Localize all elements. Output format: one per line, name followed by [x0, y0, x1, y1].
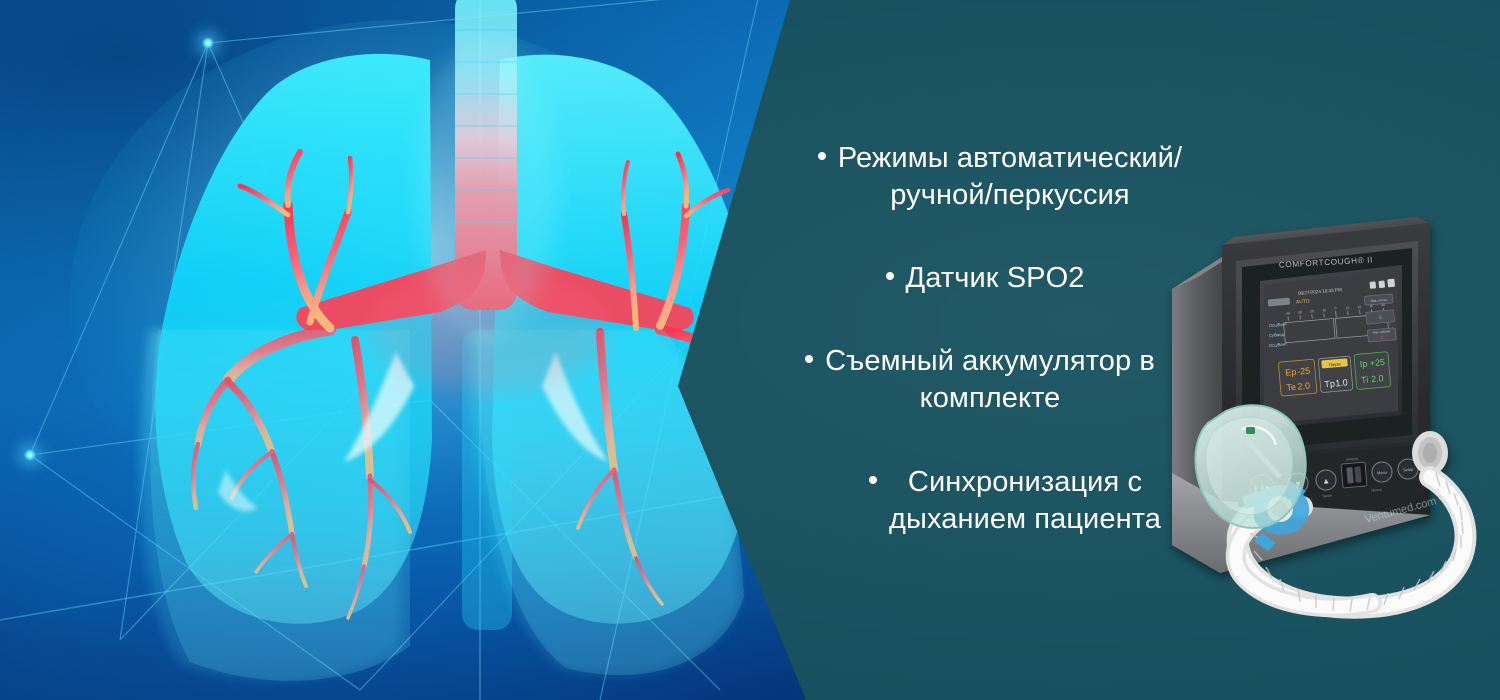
svg-text:▲: ▲	[1322, 476, 1331, 486]
readout-label: Iр	[1359, 359, 1367, 370]
scale-tick: 10	[1345, 306, 1349, 310]
screen-mode-tag: AUTO	[1296, 298, 1310, 305]
bullet-dot-icon	[886, 272, 894, 280]
readout-label: Eр	[1285, 367, 1297, 378]
readout-value: 2.0	[1371, 373, 1384, 384]
readout-value: +25	[1369, 357, 1385, 368]
scale-tick: -30	[1297, 310, 1302, 314]
readout-label: Te	[1286, 382, 1296, 393]
button-caption: Switch	[1323, 494, 1333, 499]
mask-valve	[1246, 427, 1255, 434]
feature-text-sync: Синхронизация сдыханием пациента	[889, 464, 1161, 538]
feature-text-battery: Съемный аккумулятор вкомплекте	[825, 343, 1155, 417]
readout-value: -25	[1297, 366, 1311, 377]
readout-value: 1.0	[1335, 377, 1348, 388]
readout-label: Tp	[1324, 378, 1335, 389]
comfortcough-device: COMFORTCOUGH® II 06/27/2024 10:43 PM AUT…	[1130, 215, 1490, 635]
bullet-dot-icon	[818, 152, 826, 160]
scale-tick: -10	[1321, 308, 1326, 312]
glass-front-left	[150, 330, 410, 681]
scale-tick: 20	[1357, 305, 1361, 309]
list-item: Режимы автоматический/ручной/перкуссия	[700, 140, 1260, 214]
feature-text-modes: Режимы автоматический/ручной/перкуссия	[838, 140, 1182, 214]
scale-tick: -20	[1309, 309, 1314, 313]
scale-tick: -40	[1285, 311, 1290, 315]
button-caption: Setup	[1403, 466, 1415, 472]
readout-value: 2.0	[1297, 381, 1310, 392]
slide-canvas: Режимы автоматический/ручной/перкуссия Д…	[0, 0, 1500, 700]
bullet-dot-icon	[869, 476, 877, 484]
button-caption: Menu	[1377, 470, 1387, 476]
device-image: COMFORTCOUGH® II 06/27/2024 10:43 PM AUT…	[1130, 215, 1490, 635]
feature-text-spo2: Датчик SPO2	[906, 260, 1085, 297]
bullet-dot-icon	[805, 355, 813, 363]
readout-label: Ti	[1361, 375, 1369, 386]
